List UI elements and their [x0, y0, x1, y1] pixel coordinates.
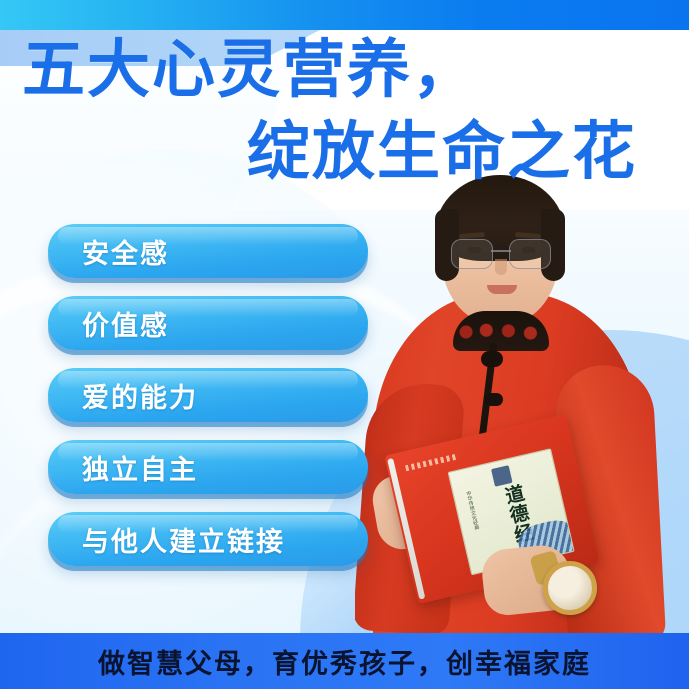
eyeglasses-lens-left [451, 239, 493, 269]
book-label-sidetext: 中华传统文化经典 [463, 490, 479, 531]
book-cover-subtext [405, 453, 459, 471]
pill-item-1-label: 安全感 [48, 232, 169, 271]
pill-item-5-label: 与他人建立链接 [48, 520, 285, 559]
poster-canvas: 中华传统文化经典 道德经 五大心灵营养， 绽放生命之花 安全感 价值感 爱的能力… [0, 0, 689, 689]
bottom-banner: 做智慧父母，育优秀孩子，创幸福家庭 [0, 633, 689, 689]
bottom-banner-text: 做智慧父母，育优秀孩子，创幸福家庭 [98, 642, 591, 681]
presenter-mouth [487, 285, 517, 294]
eyeglasses-bridge [491, 250, 511, 252]
presenter-frog-button-2 [485, 393, 503, 406]
pill-item-4-label: 独立自主 [48, 448, 198, 487]
presenter-nose [495, 259, 507, 275]
pill-item-2[interactable]: 价值感 [48, 296, 368, 350]
headline-line-2: 绽放生命之花 [0, 120, 689, 184]
book-seal-icon [491, 465, 513, 487]
presenter-collar-embroidery [455, 321, 547, 343]
pill-item-3-label: 爱的能力 [48, 376, 198, 415]
pill-item-3[interactable]: 爱的能力 [48, 368, 368, 422]
pill-item-4[interactable]: 独立自主 [48, 440, 368, 494]
presenter-photo: 中华传统文化经典 道德经 [355, 175, 689, 637]
pill-item-1[interactable]: 安全感 [48, 224, 368, 278]
pill-item-5[interactable]: 与他人建立链接 [48, 512, 368, 566]
nutrient-pill-list: 安全感 价值感 爱的能力 独立自主 与他人建立链接 [48, 224, 368, 584]
presenter-frog-button-1 [481, 351, 503, 367]
top-accent-strip [0, 0, 689, 30]
headline-line-1: 五大心灵营养， [0, 38, 689, 102]
page-title: 五大心灵营养， 绽放生命之花 [0, 38, 689, 185]
eyeglasses-lens-right [509, 239, 551, 269]
pill-item-2-label: 价值感 [48, 304, 169, 343]
